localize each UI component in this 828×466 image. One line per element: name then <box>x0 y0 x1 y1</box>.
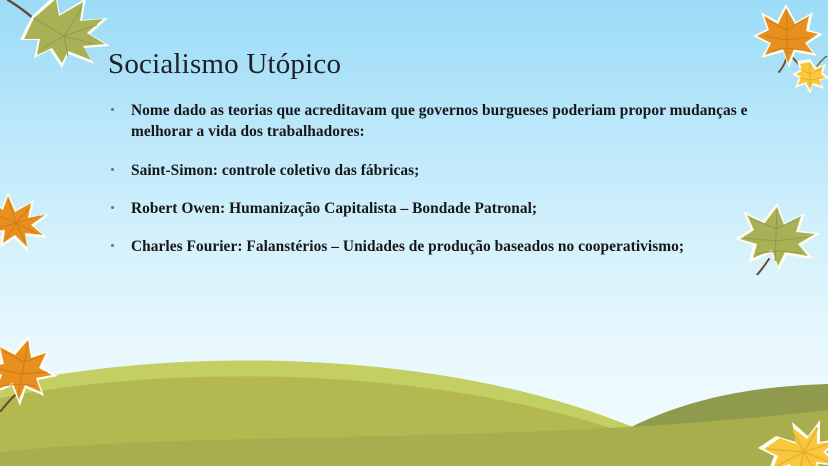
leaf-middle-left-icon <box>0 190 54 252</box>
list-item: Charles Fourier: Falanstérios – Unidades… <box>108 236 748 257</box>
list-item-text: Charles Fourier: Falanstérios – Unidades… <box>131 236 748 257</box>
bullet-list: Nome dado as teorias que acreditavam que… <box>108 100 748 257</box>
list-item: Nome dado as teorias que acreditavam que… <box>108 100 748 143</box>
hill-foreground-band <box>0 410 828 466</box>
list-item: Robert Owen: Humanização Capitalista – B… <box>108 198 748 219</box>
list-item: Saint-Simon: controle coletivo das fábri… <box>108 160 748 181</box>
hill-main-olive <box>0 376 828 466</box>
bullet-marker-icon <box>111 244 114 247</box>
bullet-marker-icon <box>111 168 114 171</box>
bullet-marker-icon <box>111 108 114 111</box>
hill-left-light <box>0 360 828 466</box>
bullet-marker-icon <box>111 206 114 209</box>
leaf-bottom-right-icon <box>758 420 828 466</box>
leaf-top-left-icon <box>0 0 116 68</box>
leaf-top-right-small-icon <box>792 56 828 94</box>
list-item-text: Robert Owen: Humanização Capitalista – B… <box>131 198 748 219</box>
list-item-text: Saint-Simon: controle coletivo das fábri… <box>131 160 748 181</box>
hill-right-dark <box>560 384 828 466</box>
presentation-slide: Socialismo Utópico Nome dado as teorias … <box>0 0 828 466</box>
leaf-bottom-left-icon <box>0 336 58 412</box>
list-item-text: Nome dado as teorias que acreditavam que… <box>131 100 748 143</box>
hills-scenery <box>0 326 828 466</box>
slide-title: Socialismo Utópico <box>108 48 341 81</box>
leaf-top-right-large-icon <box>751 4 823 74</box>
